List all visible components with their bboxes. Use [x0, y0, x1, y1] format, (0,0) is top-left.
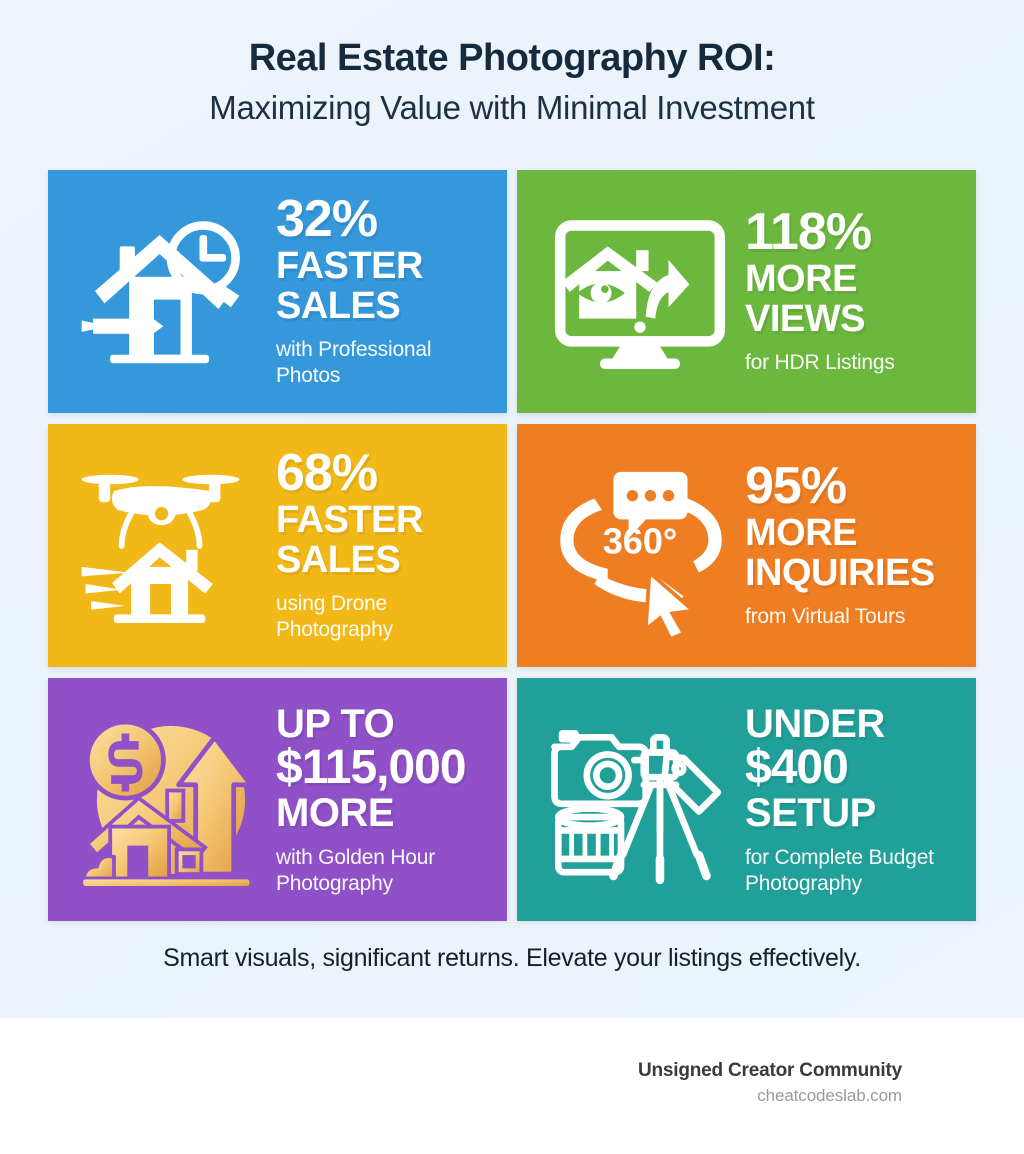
stats-grid: 32% FASTER SALES with Professional Photo…	[48, 170, 976, 921]
brand-block: Unsigned Creator Community cheatcodeslab…	[638, 1060, 902, 1106]
stat-label-line1: FASTER	[276, 501, 493, 539]
stat-value: 118%	[745, 207, 962, 258]
house-clock-arrow-icon	[76, 197, 266, 387]
stat-card-faster-sales-drone-photography[interactable]: 68% FASTER SALES using Drone Photography	[48, 424, 507, 667]
icon-360-caption: 360°	[603, 520, 678, 561]
stat-card-more-views-hdr-listings[interactable]: 118% MORE VIEWS for HDR Listings	[517, 170, 976, 413]
stat-label-line1: MORE	[745, 514, 962, 552]
stat-text-block: UNDER $400 SETUP for Complete Budget Pho…	[735, 702, 976, 898]
infographic-panel: Real Estate Photography ROI: Maximizing …	[0, 0, 1024, 1018]
stat-value: 68%	[276, 448, 493, 499]
page-title: Real Estate Photography ROI:	[0, 36, 1024, 81]
stat-text-block: 32% FASTER SALES with Professional Photo…	[266, 194, 507, 389]
stat-card-more-value-golden-hour[interactable]: UP TO $115,000 MORE with Golden Hour Pho…	[48, 678, 507, 921]
brand-url[interactable]: cheatcodeslab.com	[638, 1086, 902, 1106]
stat-text-block: UP TO $115,000 MORE with Golden Hour Pho…	[266, 702, 507, 898]
tagline: Smart visuals, significant returns. Elev…	[0, 944, 1024, 973]
stat-card-more-inquiries-virtual-tours[interactable]: 360° 95% MORE INQUIRIES from Virtual Tou…	[517, 424, 976, 667]
stat-value-line2: $115,000	[276, 744, 493, 791]
stat-label-line2: SALES	[276, 287, 493, 325]
camera-lens-tripod-tag-icon	[545, 705, 735, 895]
page-subtitle: Maximizing Value with Minimal Investment	[0, 87, 1024, 130]
monitor-house-eye-arrow-icon	[545, 197, 735, 387]
stat-description: for HDR Listings	[745, 350, 962, 376]
stat-description: for Complete Budget Photography	[745, 845, 962, 898]
stat-value: 95%	[745, 461, 962, 512]
dollar-coin-house-uparrow-icon	[76, 705, 266, 895]
stat-label-line2: INQUIRIES	[745, 554, 962, 592]
360-rotation-chat-cursor-icon: 360°	[545, 451, 735, 641]
stat-description: with Golden Hour Photography	[276, 845, 493, 898]
stat-description: from Virtual Tours	[745, 604, 962, 630]
stat-card-faster-sales-professional-photos[interactable]: 32% FASTER SALES with Professional Photo…	[48, 170, 507, 413]
drone-house-speed-icon	[76, 451, 266, 641]
stat-label-line1: MORE	[745, 260, 962, 298]
stat-description: with Professional Photos	[276, 337, 493, 390]
stat-label-line1: FASTER	[276, 247, 493, 285]
stat-label-line1: SETUP	[745, 793, 962, 833]
stat-value-line2: $400	[745, 744, 962, 791]
stat-description: using Drone Photography	[276, 591, 493, 644]
brand-name: Unsigned Creator Community	[638, 1060, 902, 1082]
infographic-page: Real Estate Photography ROI: Maximizing …	[0, 0, 1024, 1154]
stat-text-block: 118% MORE VIEWS for HDR Listings	[735, 207, 976, 376]
stat-text-block: 95% MORE INQUIRIES from Virtual Tours	[735, 461, 976, 630]
stat-value: 32%	[276, 194, 493, 245]
footer-band: Unsigned Creator Community cheatcodeslab…	[0, 1018, 1024, 1154]
stat-value-line1: UNDER	[745, 704, 962, 744]
stat-text-block: 68% FASTER SALES using Drone Photography	[266, 448, 507, 643]
header: Real Estate Photography ROI: Maximizing …	[0, 0, 1024, 130]
stat-label-line2: VIEWS	[745, 300, 962, 338]
stat-value-line1: UP TO	[276, 704, 493, 744]
stat-label-line1: MORE	[276, 793, 493, 833]
stat-label-line2: SALES	[276, 541, 493, 579]
stat-card-budget-setup-cost[interactable]: UNDER $400 SETUP for Complete Budget Pho…	[517, 678, 976, 921]
